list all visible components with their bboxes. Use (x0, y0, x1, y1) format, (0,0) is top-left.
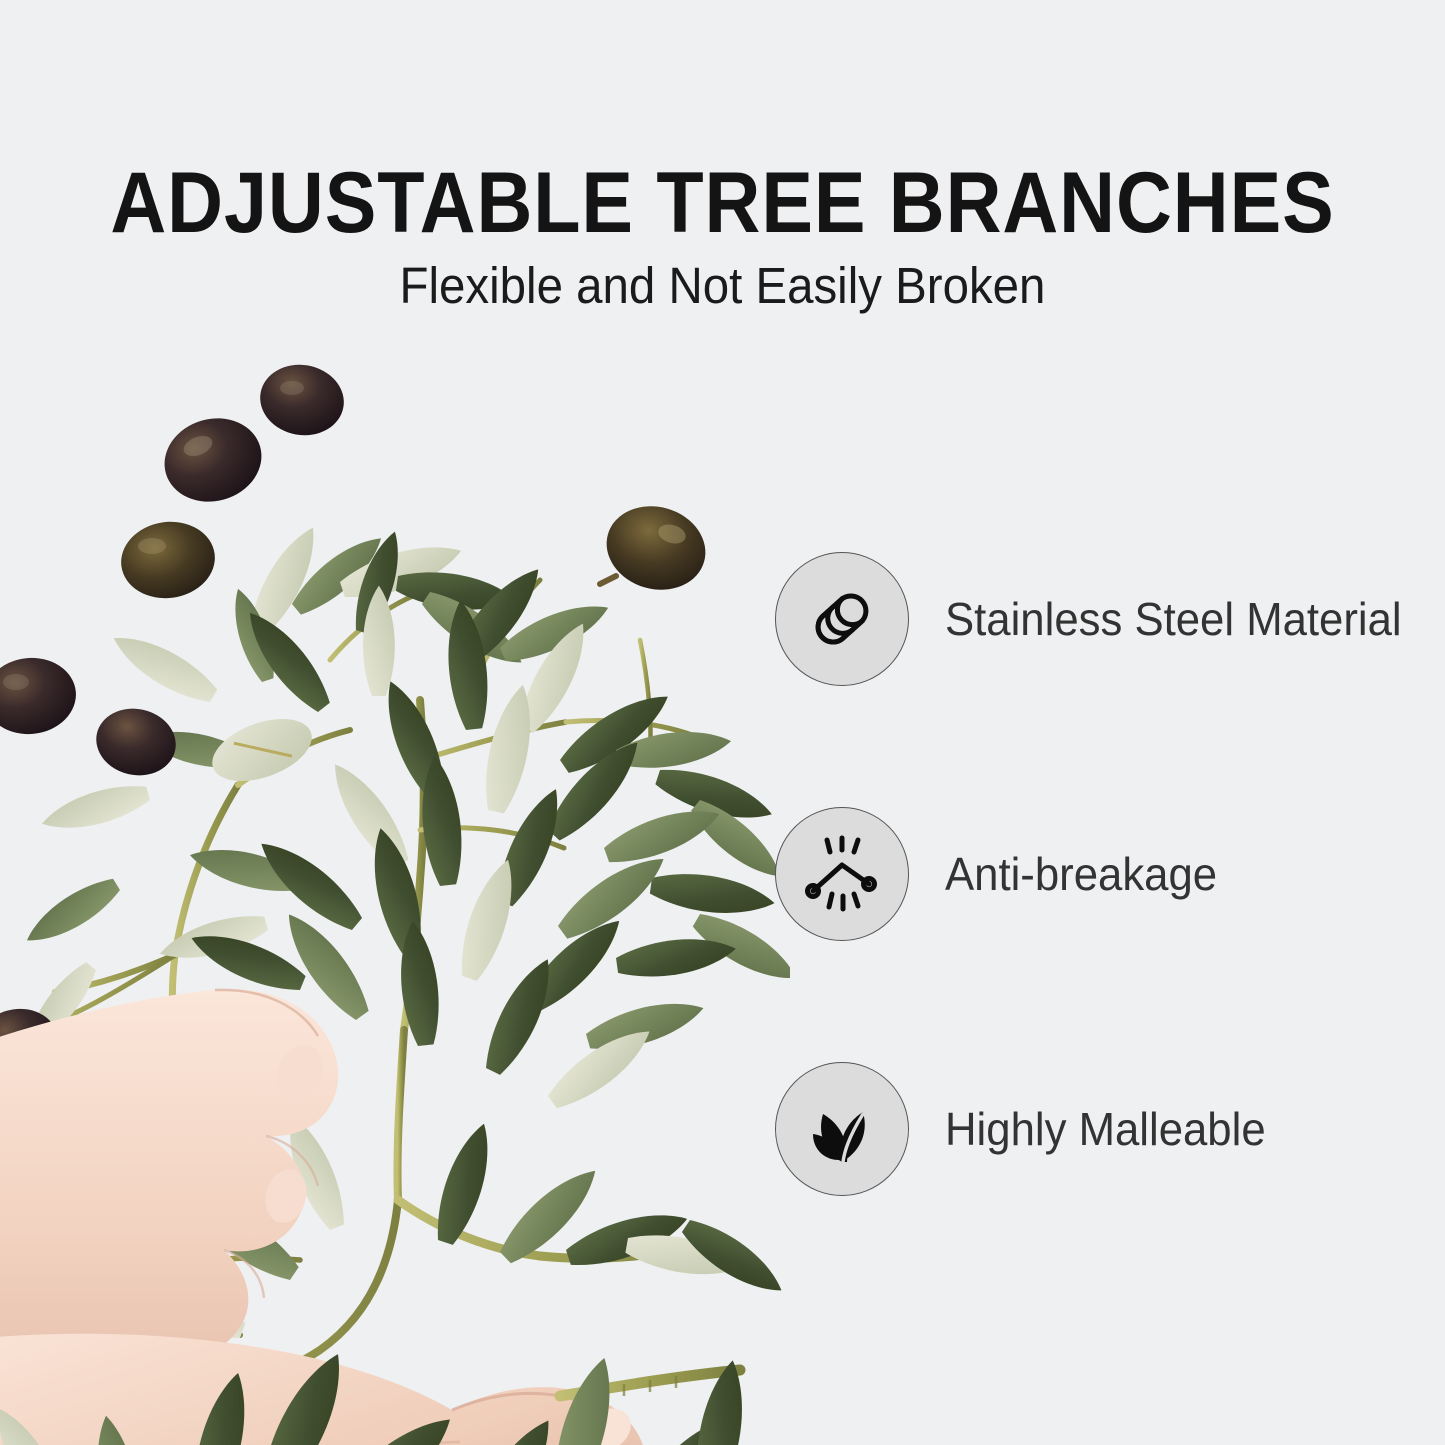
feature-icon-badge (775, 1062, 909, 1196)
steel-tubes-icon (803, 580, 881, 658)
feature-list: Stainless Steel Material (775, 548, 1445, 1200)
product-feature-banner: ADJUSTABLE TREE BRANCHES Flexible and No… (0, 0, 1445, 1445)
page-subtitle: Flexible and Not Easily Broken (51, 258, 1395, 314)
feature-label: Highly Malleable (945, 1102, 1266, 1156)
bent-rod-icon (802, 834, 882, 914)
feature-item-stainless-steel: Stainless Steel Material (775, 548, 1445, 690)
page-title: ADJUSTABLE TREE BRANCHES (72, 160, 1373, 246)
leaf-cluster-icon (803, 1090, 881, 1168)
feature-icon-badge (775, 807, 909, 941)
feature-item-highly-malleable: Highly Malleable (775, 1058, 1445, 1200)
feature-icon-badge (775, 552, 909, 686)
product-photo (0, 330, 790, 1445)
feature-item-anti-breakage: Anti-breakage (775, 803, 1445, 945)
feature-label: Anti-breakage (945, 847, 1217, 901)
feature-label: Stainless Steel Material (945, 592, 1402, 646)
